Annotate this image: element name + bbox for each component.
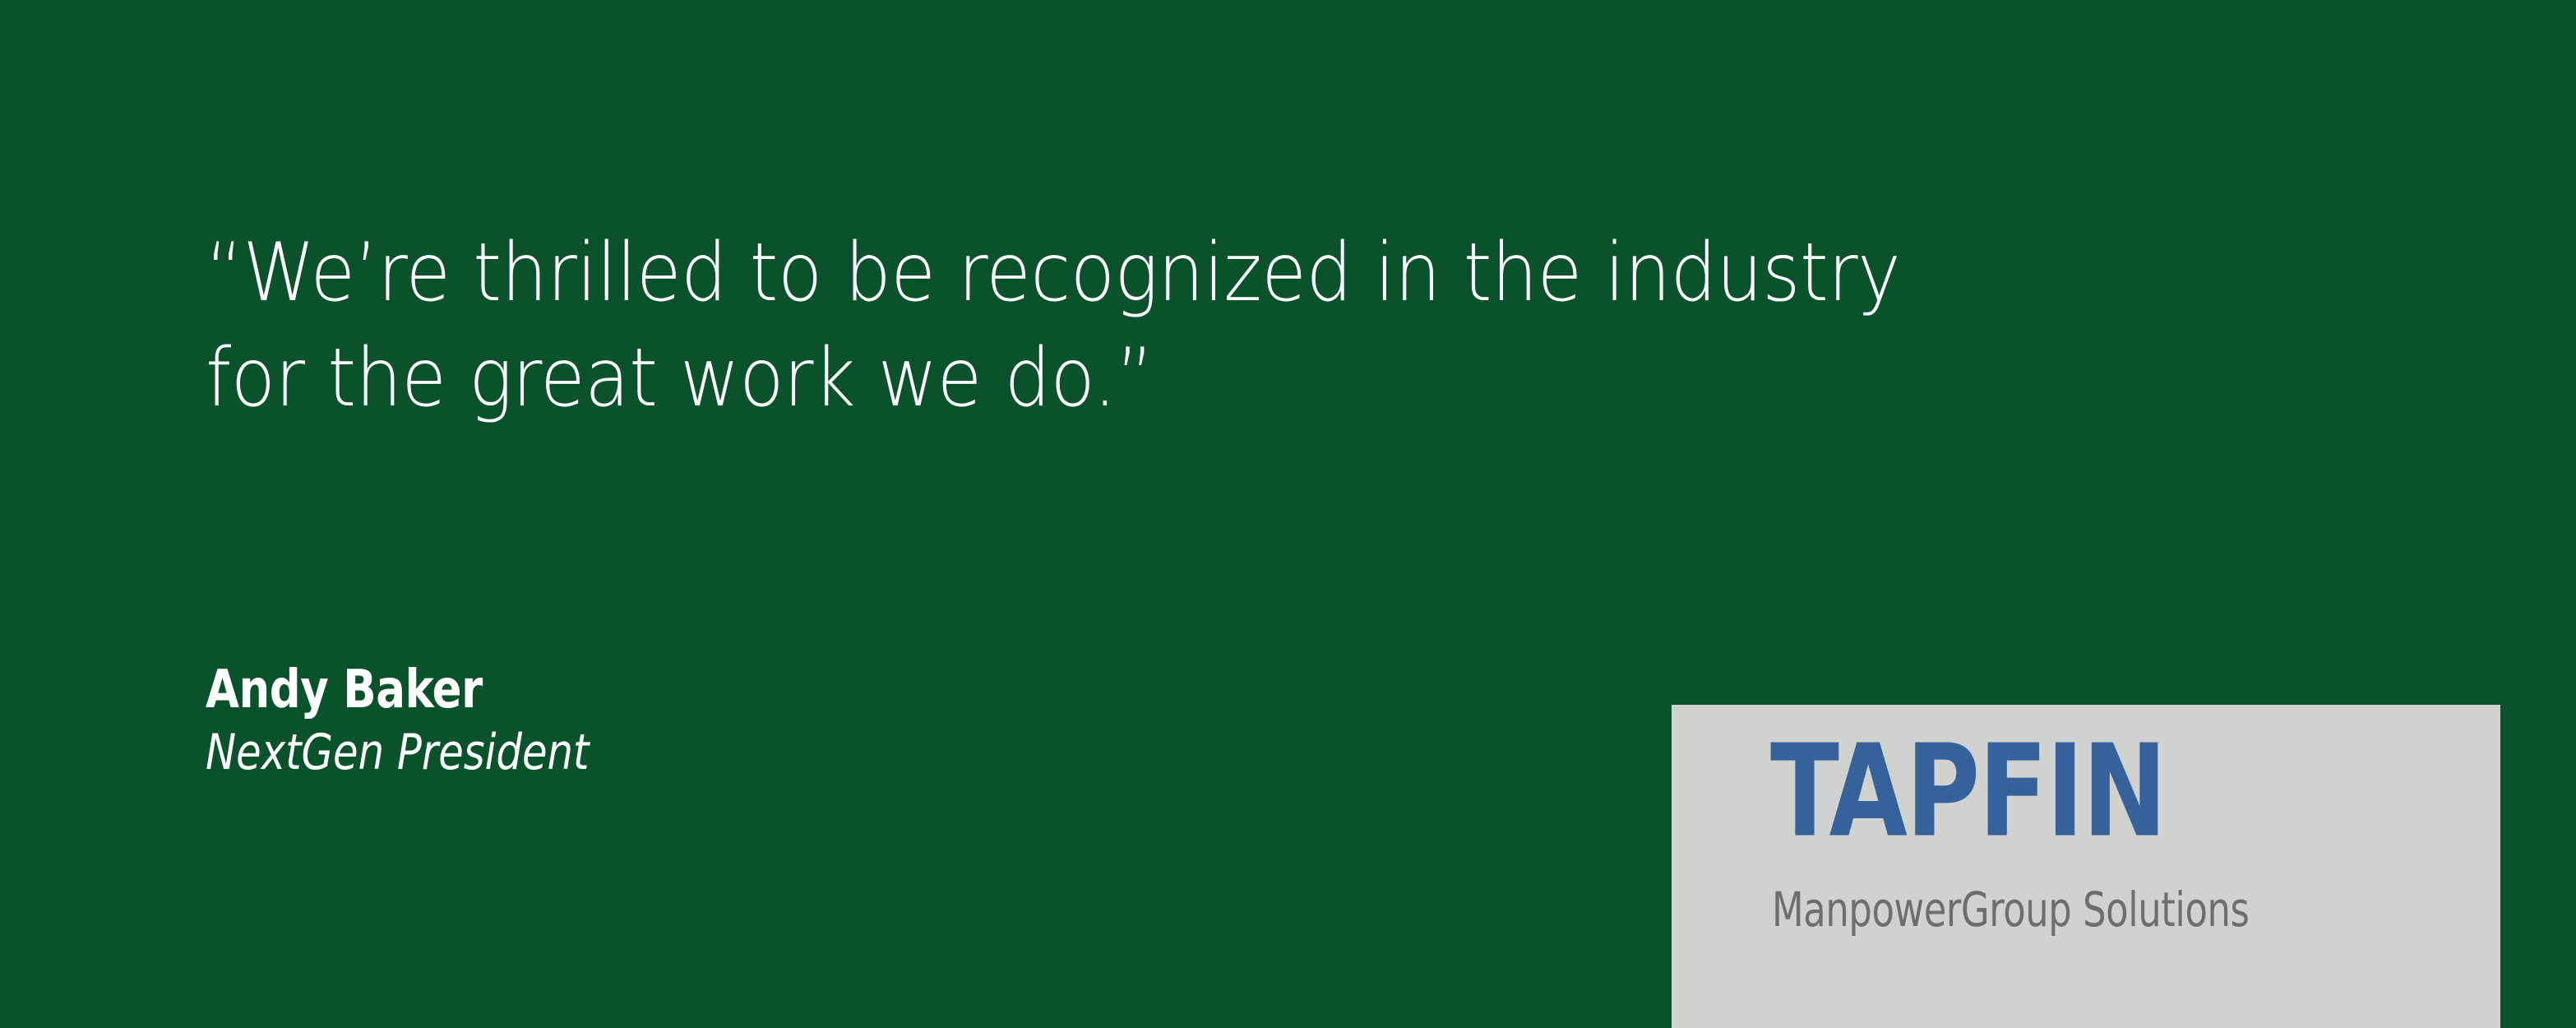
quote-line-2: for the great work we do.”	[206, 326, 1991, 431]
tapfin-wordmark: TAPFIN	[1770, 728, 2166, 855]
manpowergroup-solutions-tagline: ManpowerGroup Solutions	[1772, 884, 2249, 935]
speaker-name: Andy Baker	[206, 658, 1265, 722]
quote-block: “We’re thrilled to be recognized in the …	[206, 220, 2179, 431]
attribution-block: Andy Baker NextGen President	[206, 658, 1357, 783]
quote-line-1: “We’re thrilled to be recognized in the …	[206, 220, 1991, 326]
testimonial-slide: “We’re thrilled to be recognized in the …	[0, 0, 2576, 1028]
tapfin-logo-card: TAPFIN ManpowerGroup Solutions	[1672, 705, 2500, 1028]
speaker-title: NextGen President	[206, 722, 1265, 783]
